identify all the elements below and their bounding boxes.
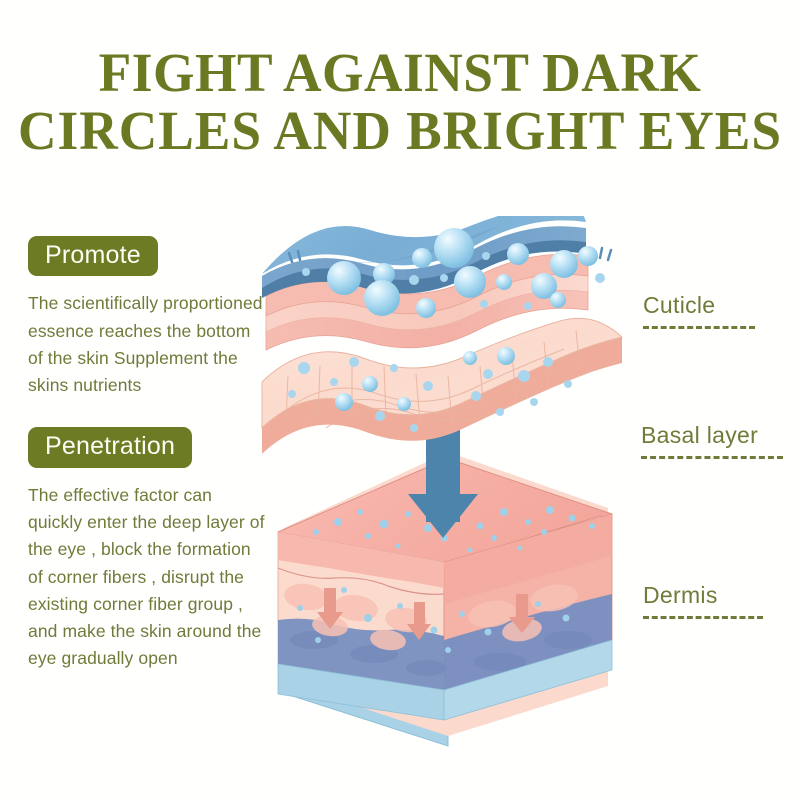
- layer-label-dermis-text: Dermis: [643, 582, 718, 608]
- layer-label-dermis-underline: [643, 616, 763, 619]
- promote-badge: Promote: [28, 236, 158, 276]
- layer-label-cuticle-text: Cuticle: [643, 292, 715, 318]
- page-title: FIGHT AGAINST DARK CIRCLES AND BRIGHT EY…: [0, 44, 800, 161]
- layer-label-basal: Basal layer: [641, 422, 783, 459]
- left-text-column: Promote The scientifically proportioned …: [28, 236, 278, 673]
- page-title-line-2: CIRCLES AND BRIGHT EYES: [12, 102, 788, 160]
- page-title-line-1: FIGHT AGAINST DARK: [12, 44, 788, 102]
- layer-label-dermis: Dermis: [643, 582, 763, 619]
- layer-label-basal-underline: [641, 456, 783, 459]
- layer-label-cuticle-underline: [643, 326, 755, 329]
- promote-section: Promote The scientifically proportioned …: [28, 236, 278, 399]
- layer-label-cuticle: Cuticle: [643, 292, 755, 329]
- penetration-section: Penetration The effective factor can qui…: [28, 427, 278, 672]
- skin-cross-section-diagram: [248, 216, 636, 764]
- promote-body-text: The scientifically proportioned essence …: [28, 290, 268, 399]
- penetration-body-text: The effective factor can quickly enter t…: [28, 482, 268, 673]
- penetration-badge: Penetration: [28, 427, 192, 467]
- layer-label-basal-text: Basal layer: [641, 422, 758, 448]
